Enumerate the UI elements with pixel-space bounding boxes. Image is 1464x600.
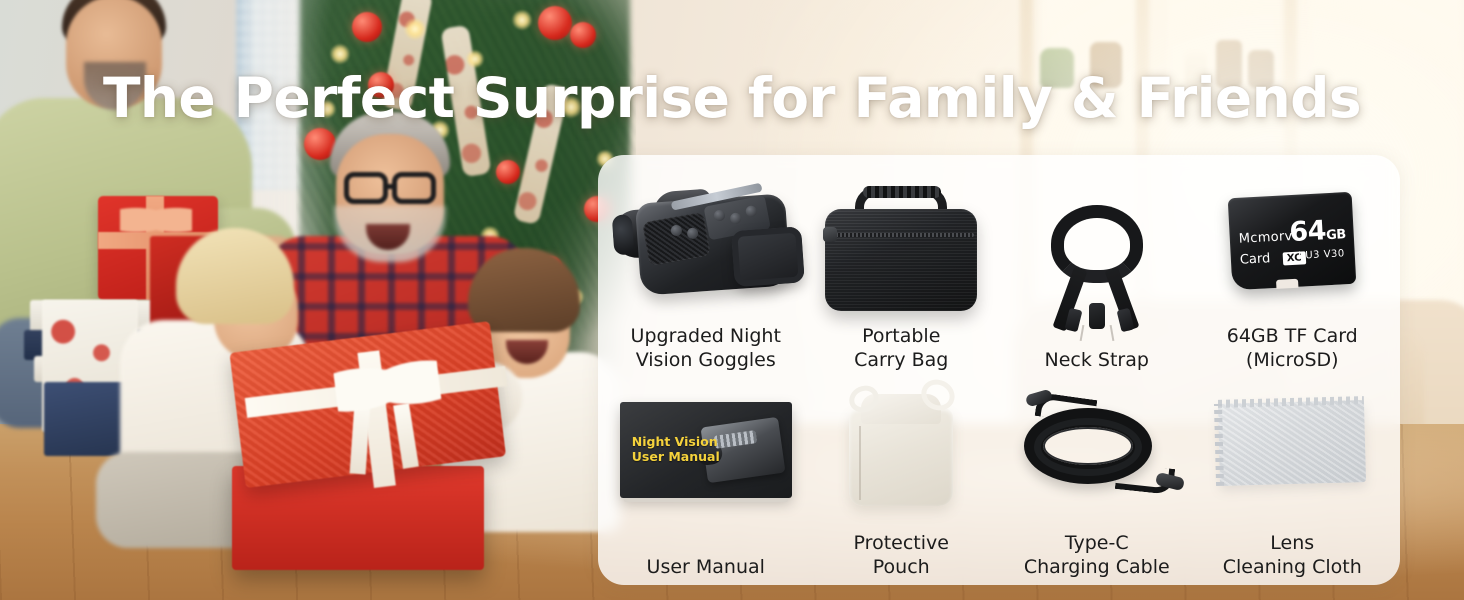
product-label-line1: Neck Strap xyxy=(1045,349,1149,373)
cloth-weave-texture xyxy=(1218,400,1366,486)
manual-icon: Night Vision User Manual xyxy=(620,402,792,498)
product-label: User Manual xyxy=(647,556,765,580)
product-label: Protective Pouch xyxy=(854,532,949,579)
product-label-line2: Pouch xyxy=(854,556,949,580)
strap-cord xyxy=(1079,324,1084,340)
product-item-protective-pouch[interactable]: Protective Pouch xyxy=(804,372,1000,579)
card-brand-text: Mcmorv xyxy=(1239,229,1294,247)
product-item-lens-cleaning-cloth[interactable]: Lens Cleaning Cloth xyxy=(1195,372,1391,579)
neck-strap-image xyxy=(999,193,1195,343)
card-word-text: Card xyxy=(1240,251,1271,268)
product-label: Lens Cleaning Cloth xyxy=(1223,532,1362,579)
product-label: Upgraded Night Vision Goggles xyxy=(631,325,781,372)
product-label-line1: Upgraded Night xyxy=(631,325,781,349)
bag-zipper-pull xyxy=(823,227,837,242)
tree-ornament xyxy=(538,6,572,40)
card-capacity-unit: GB xyxy=(1326,227,1346,243)
eyeglasses-right-lens xyxy=(392,172,436,204)
eyeglasses-left-lens xyxy=(344,172,388,204)
whats-in-the-box-panel: Upgraded Night Vision Goggles Porta xyxy=(598,155,1400,585)
product-item-neck-strap[interactable]: Neck Strap xyxy=(999,169,1195,372)
product-label-line1: Lens xyxy=(1223,532,1362,556)
product-label-line2: Carry Bag xyxy=(854,349,948,373)
strap-cord xyxy=(1109,324,1114,340)
gift-bow xyxy=(333,354,444,428)
product-label-line2: Vision Goggles xyxy=(631,349,781,373)
product-item-night-vision-goggles[interactable]: Upgraded Night Vision Goggles xyxy=(608,169,804,372)
strap-loop xyxy=(1051,205,1143,283)
bag-shell xyxy=(825,209,977,311)
product-label-line2: Cleaning Cloth xyxy=(1223,556,1362,580)
promo-banner: The Perfect Surprise for Family & Friend… xyxy=(0,0,1464,600)
product-item-charging-cable[interactable]: Type-C Charging Cable xyxy=(999,372,1195,579)
product-label-line1: Portable xyxy=(854,325,948,349)
product-label-line1: Protective xyxy=(854,532,949,556)
eyeglasses-bridge xyxy=(386,184,396,189)
bag-handle-grip xyxy=(863,186,941,198)
page-title: The Perfect Surprise for Family & Friend… xyxy=(0,66,1464,130)
manual-page-edge xyxy=(624,498,788,502)
product-grid: Upgraded Night Vision Goggles Porta xyxy=(598,155,1400,585)
product-label: Type-C Charging Cable xyxy=(1024,532,1170,579)
product-label-line2: Charging Cable xyxy=(1024,556,1170,580)
carry-bag-icon xyxy=(825,187,977,311)
gift-bow xyxy=(120,200,192,240)
tf-card-image: Mcmorv 64GB Card XC I U3 V30 xyxy=(1195,169,1391,319)
card-capacity-text: 64GB xyxy=(1289,214,1347,248)
product-label-line2: (MicroSD) xyxy=(1227,349,1358,373)
product-label: Neck Strap xyxy=(1045,349,1149,373)
carry-bag-image xyxy=(804,169,1000,319)
product-item-user-manual[interactable]: Night Vision User Manual User Manual xyxy=(608,372,804,579)
manual-title-line1: Night Vision xyxy=(632,434,720,449)
product-label: 64GB TF Card (MicroSD) xyxy=(1227,325,1358,372)
manual-title-line2: User Manual xyxy=(632,449,720,464)
lens-cloth-image xyxy=(1195,372,1391,522)
card-capacity-number: 64 xyxy=(1289,215,1327,248)
card-notch xyxy=(1276,279,1298,289)
user-manual-image: Night Vision User Manual xyxy=(608,396,804,546)
strap-toggle xyxy=(1089,303,1105,329)
protective-pouch-image xyxy=(804,372,1000,522)
bag-zipper xyxy=(828,233,974,237)
product-label-line1: Type-C xyxy=(1024,532,1170,556)
usb-c-cable-icon xyxy=(1014,394,1180,498)
tree-string-light xyxy=(512,10,532,30)
tree-ornament xyxy=(496,160,520,184)
charging-cable-image xyxy=(999,372,1195,522)
microfiber-cloth-icon xyxy=(1218,400,1366,486)
product-label-line1: 64GB TF Card xyxy=(1227,325,1358,349)
tree-ornament xyxy=(570,22,596,48)
product-item-tf-card[interactable]: Mcmorv 64GB Card XC I U3 V30 64GB TF Car… xyxy=(1195,169,1391,372)
product-item-carry-bag[interactable]: Portable Carry Bag xyxy=(804,169,1000,372)
product-label-line1: User Manual xyxy=(647,556,765,580)
tree-string-light xyxy=(330,44,350,64)
goggles-icon xyxy=(608,179,804,312)
microsd-card-icon: Mcmorv 64GB Card XC I U3 V30 xyxy=(1228,192,1357,290)
goggles-lens xyxy=(611,214,634,255)
neck-strap-icon xyxy=(1037,205,1157,339)
product-label: Portable Carry Bag xyxy=(854,325,948,372)
night-vision-goggles-image xyxy=(608,169,804,319)
pouch-icon xyxy=(845,382,957,508)
goggles-eyecup xyxy=(731,226,805,287)
tree-string-light xyxy=(404,18,426,40)
pouch-fabric-fold xyxy=(859,426,861,500)
manual-cover-title: Night Vision User Manual xyxy=(632,434,720,465)
tree-ornament xyxy=(352,12,382,42)
